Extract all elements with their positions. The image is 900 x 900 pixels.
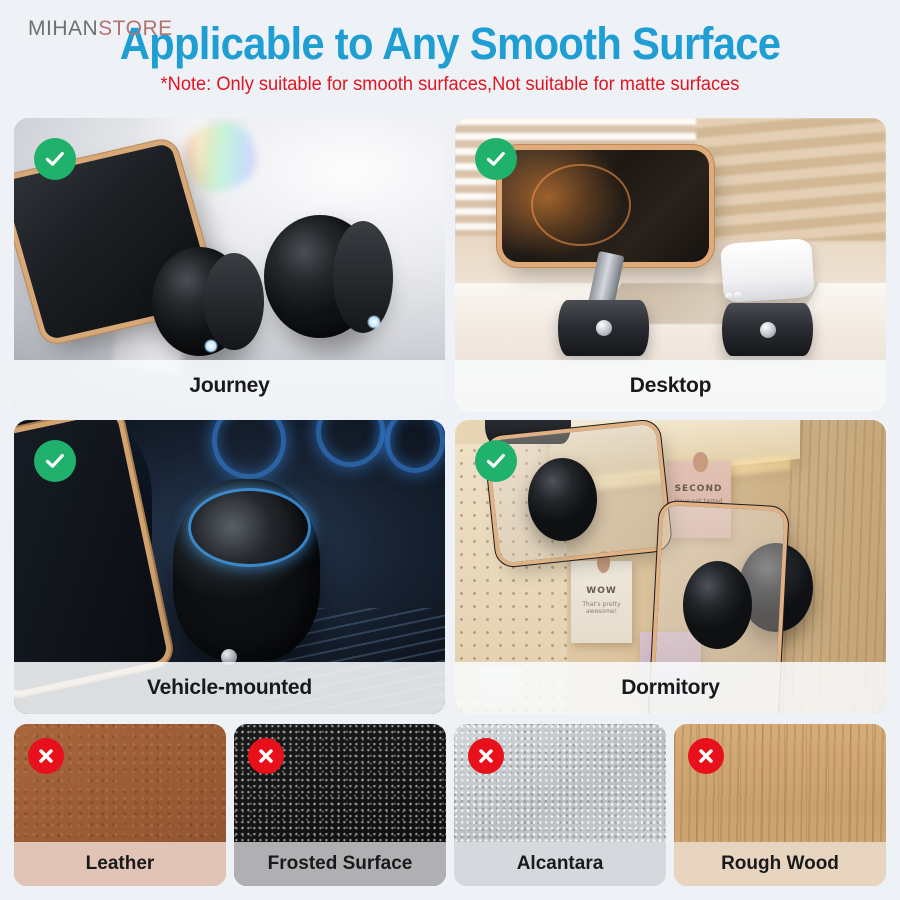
mount-glint-left	[204, 339, 218, 353]
mount-disc-top	[528, 458, 597, 540]
header: Applicable to Any Smooth Surface *Note: …	[0, 0, 900, 110]
scene-label: Vehicle-mounted	[14, 662, 445, 714]
phone-device	[502, 150, 709, 262]
air-vent-two	[316, 420, 385, 467]
cross-circle-icon	[688, 738, 724, 774]
check-circle-icon	[34, 138, 76, 180]
scene-card-dormitory[interactable]: SECOND Have not tasted WOW That's pretty…	[455, 420, 886, 714]
surface-card-leather[interactable]: Leather	[14, 724, 226, 886]
note-subtext: Have not tasted	[666, 498, 731, 505]
page-note: *Note: Only suitable for smooth surfaces…	[18, 74, 882, 96]
check-circle-icon	[34, 440, 76, 482]
note-heading: SECOND	[666, 484, 731, 494]
wood-shelf-shape	[696, 118, 886, 241]
surface-card-rough-wood[interactable]: Rough Wood	[674, 724, 886, 886]
surface-label: Alcantara	[454, 842, 666, 886]
air-vent-three	[385, 420, 445, 473]
surface-card-alcantara[interactable]: Alcantara	[454, 724, 666, 886]
magnetic-mount	[173, 479, 320, 661]
mount-ring-right	[333, 221, 393, 333]
surface-label: Rough Wood	[674, 842, 886, 886]
cross-circle-icon	[248, 738, 284, 774]
scene-label: Journey	[14, 360, 445, 412]
note-heading: WOW	[571, 586, 631, 596]
surface-label: Leather	[14, 842, 226, 886]
check-circle-icon	[475, 138, 517, 180]
suitable-scenes-grid: Journey Desktop	[14, 118, 886, 714]
sticky-note-wow: WOW That's pretty awesome!	[571, 561, 631, 643]
unsuitable-surfaces-grid: Leather Frosted Surface Alcantara Rough …	[14, 724, 886, 886]
earbud-right	[734, 292, 743, 299]
scene-card-desktop[interactable]: Desktop	[455, 118, 886, 412]
cross-circle-icon	[468, 738, 504, 774]
scene-card-journey[interactable]: Journey	[14, 118, 445, 412]
scene-card-vehicle-mounted[interactable]: Vehicle-mounted	[14, 420, 445, 714]
surface-card-frosted-surface[interactable]: Frosted Surface	[234, 724, 446, 886]
magnetic-mount-right	[722, 303, 813, 356]
scene-label: Dormitory	[455, 662, 886, 714]
note-subtext: That's pretty awesome!	[571, 601, 631, 615]
surface-label: Frosted Surface	[234, 842, 446, 886]
earbuds-case	[720, 238, 814, 303]
note-pin-icon	[693, 452, 707, 472]
page-title: Applicable to Any Smooth Surface	[32, 18, 869, 70]
check-circle-icon	[475, 440, 517, 482]
mount-ring-left	[204, 253, 264, 350]
scene-label: Desktop	[455, 360, 886, 412]
cross-circle-icon	[28, 738, 64, 774]
magnetic-mount-left	[558, 300, 649, 356]
mount-glint-right	[367, 315, 381, 329]
note-pin-icon	[597, 551, 610, 572]
earbud-left	[725, 293, 734, 300]
